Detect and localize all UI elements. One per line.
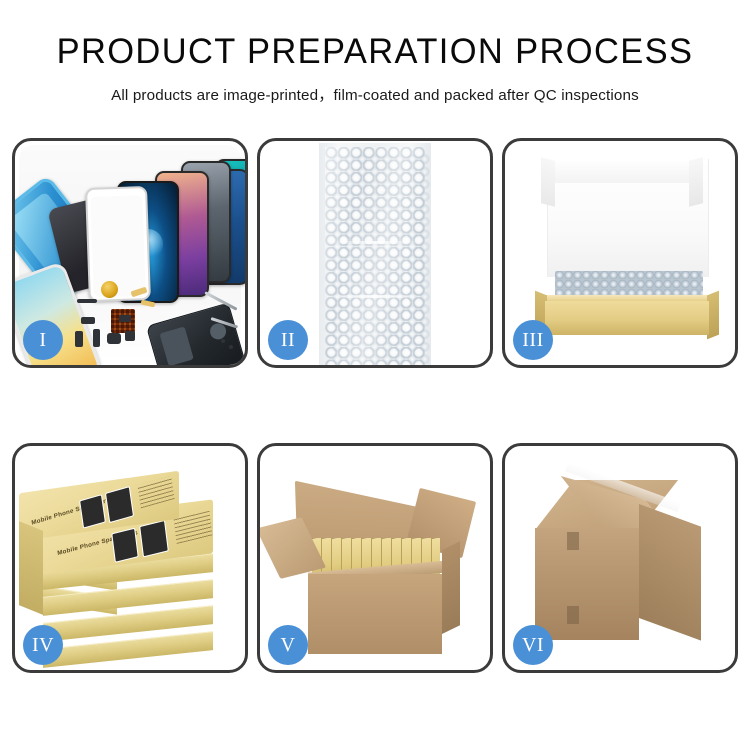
inner-box-kraft-front [545,301,709,335]
part-sensor-strip-icon [93,329,100,347]
box-phone-graphic-1a [79,494,106,529]
panel-3-caption: Bubble-wrapped product placed inside kra… [505,141,506,142]
panel-5-stage: V Boxes loaded into an open shipping car… [260,446,490,670]
part-taptic-icon [107,333,121,344]
part-antenna-strip-icon [77,299,97,303]
part-chip-icon [125,331,135,341]
panel-2-caption: Product wrapped in bubble wrap film [260,141,261,142]
panel-1-stage: I Mobile phone screens, displays and spa… [15,141,245,365]
panel-step-3-inner-box[interactable]: III Bubble-wrapped product placed inside… [502,138,738,368]
sealed-carton-right-face [639,504,701,641]
process-step-grid: I Mobile phone screens, displays and spa… [12,138,738,683]
panel-6-stage: VI Sealed and taped shipping carton read… [505,446,735,670]
step-badge-2: II [268,320,308,360]
panel-4-caption: Stack of printed kraft retail boxes [15,446,16,447]
panel-4-stage: Mobile Phone Spare Parts Mobile Phone Sp… [15,446,245,670]
page-title: PRODUCT PREPARATION PROCESS [6,0,745,69]
inner-box-lid-flap-left [541,157,555,206]
panel-step-5-open-carton[interactable]: V Boxes loaded into an open shipping car… [257,443,493,673]
part-screw-b-icon [229,345,233,349]
carton-flap-seam-upper [567,532,579,550]
panel-step-6-sealed-carton[interactable]: VI Sealed and taped shipping carton read… [502,443,738,673]
inner-box-lid-flap-right [689,157,703,206]
box-phone-graphic-2a [111,528,138,563]
carton-front-face [308,574,442,654]
carton-flap-seam-lower [567,606,579,624]
page-subtitle: All products are image-printed，film-coat… [0,69,750,105]
sealed-carton-front-face [535,528,639,640]
page-header: PRODUCT PREPARATION PROCESS All products… [0,0,750,105]
step-badge-6: VI [513,625,553,665]
part-shield-icon [119,315,131,322]
part-camera-module-icon [75,331,83,347]
panel-1-caption: Mobile phone screens, displays and spare… [15,141,16,142]
box-spec-lines-2 [174,510,213,544]
panel-6-caption: Sealed and taped shipping carton ready t… [505,446,506,447]
step-badge-3: III [513,320,553,360]
part-screw-a-icon [221,339,225,343]
part-connector-icon [81,317,95,324]
step-badge-1: I [23,320,63,360]
carton-right-side-face [442,541,460,634]
panel-5-caption: Boxes loaded into an open shipping carto… [260,446,261,447]
bubble-wrap-strip-image [319,143,431,365]
panel-2-stage: II Product wrapped in bubble wrap film [260,141,490,365]
box-phone-graphic-1b [105,486,134,523]
panel-step-2-bubble-wrap[interactable]: II Product wrapped in bubble wrap film [257,138,493,368]
bubble-wrap-sheen [325,147,425,365]
step-badge-4: IV [23,625,63,665]
stack-left-side-face [19,521,43,615]
panel-3-stage: III Bubble-wrapped product placed inside… [505,141,735,365]
part-speaker-gold-icon [101,281,118,298]
box-spec-lines-1 [137,476,174,509]
box-phone-graphic-2b [139,520,169,558]
panel-step-4-stacked-boxes[interactable]: Mobile Phone Spare Parts Mobile Phone Sp… [12,443,248,673]
step-badge-5: V [268,625,308,665]
panel-step-1-products[interactable]: I Mobile phone screens, displays and spa… [12,138,248,368]
screen-protector-white-bezel-image [85,186,151,302]
inner-box-lid-top-edge [555,159,699,183]
